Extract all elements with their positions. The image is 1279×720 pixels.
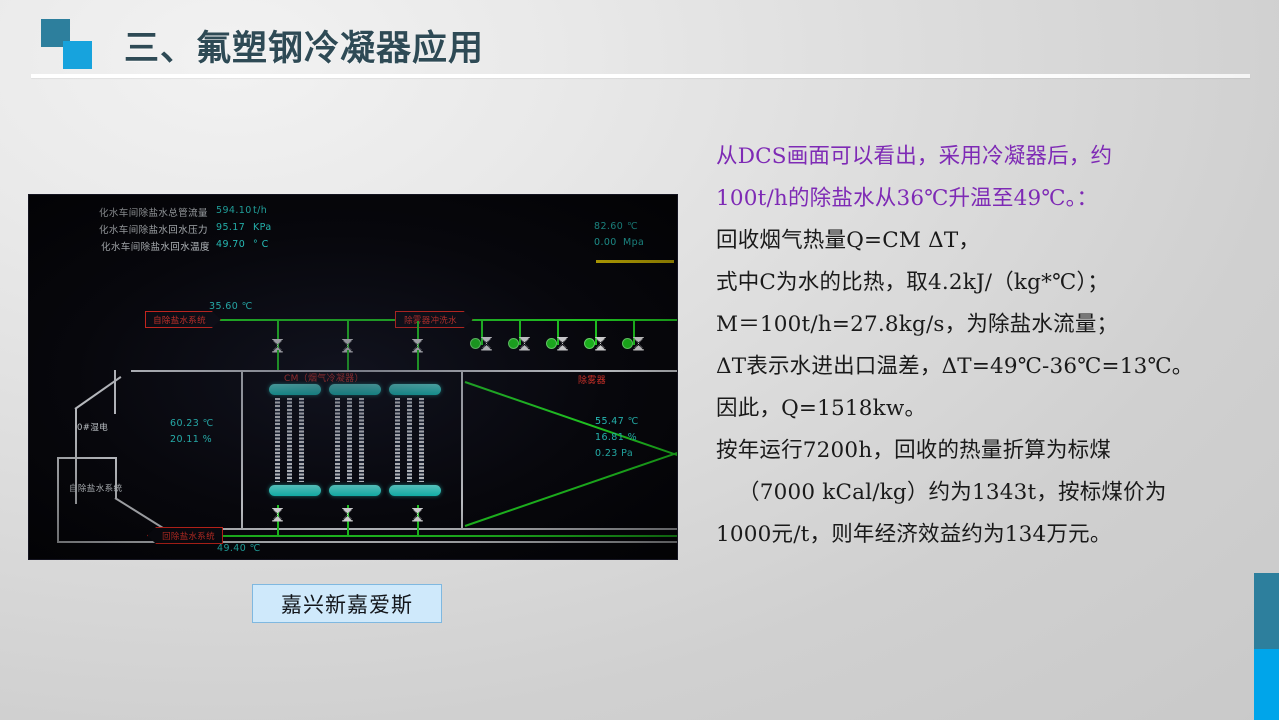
- dcs-top-right-unit-1: Mpa: [623, 237, 644, 248]
- dcs-label-cm: CM（烟气冷凝器）: [284, 371, 364, 384]
- dcs-nozzle-icon: [584, 338, 595, 349]
- dcs-label-bottom-left: 自除盐水系统: [69, 482, 122, 494]
- dcs-top-right-unit-0: ℃: [627, 221, 638, 232]
- dcs-screenshot-photo: 化水车间除盐水总管流量 594.10 t/h 化水车间除盐水回水压力 95.17…: [28, 194, 678, 560]
- dcs-tube-bundle: [347, 398, 352, 482]
- dcs-readout-unit-2: ° C: [253, 239, 269, 250]
- dcs-return-header-pipe: [159, 535, 678, 537]
- dcs-valve-icon: [342, 508, 353, 521]
- dcs-label-wet-esp: 0#湿电: [77, 421, 108, 433]
- dcs-cm-footer-bar: [269, 485, 321, 496]
- dcs-value-right-1: 16.81 %: [595, 432, 637, 443]
- dcs-tube-bundle: [299, 398, 304, 482]
- dcs-duct-cone-lower: [114, 497, 168, 532]
- dcs-valve-icon: [595, 337, 606, 350]
- dcs-cm-footer-bar: [329, 485, 381, 496]
- dcs-return-temp: 49.40 ℃: [217, 543, 261, 554]
- dcs-duct-bottom-wall: [169, 528, 678, 530]
- dcs-duct-lower-left: [57, 457, 117, 459]
- slide-header: 三、氟塑钢冷凝器应用: [0, 0, 1279, 90]
- dcs-drop-leg: [417, 350, 419, 372]
- body-text-line-4: M＝100t/h=27.8kg/s，为除盐水流量；: [716, 304, 1264, 346]
- dcs-valve-icon: [557, 337, 568, 350]
- dcs-top-right-value-1: 0.00: [594, 237, 617, 248]
- dcs-nozzle-icon: [546, 338, 557, 349]
- dcs-tube-bundle: [335, 398, 340, 482]
- dcs-tag-inlet: 自除盐水系统: [145, 311, 221, 328]
- dcs-tube-bundle: [407, 398, 412, 482]
- dcs-duct-seg: [114, 370, 116, 414]
- dcs-top-right-value-0: 82.60: [594, 221, 623, 232]
- dcs-valve-icon: [633, 337, 644, 350]
- body-text-line-8: （7000 kCal/kg）约为1343t，按标煤价为: [716, 472, 1264, 514]
- dcs-readout-unit-1: KPa: [253, 222, 272, 233]
- dcs-value-right-0: 55.47 ℃: [595, 416, 639, 427]
- dcs-supply-temp: 35.60 ℃: [209, 301, 253, 312]
- page-title: 三、氟塑钢冷凝器应用: [124, 20, 484, 71]
- dcs-tube-bundle: [395, 398, 400, 482]
- image-caption: 嘉兴新嘉爱斯: [252, 584, 442, 623]
- dcs-demister-cross: [465, 444, 678, 527]
- dcs-readout-label-2: 化水车间除盐水回水温度: [101, 239, 210, 253]
- dcs-label-demister: 除雾器: [578, 373, 606, 386]
- dcs-valve-icon: [481, 337, 492, 350]
- body-text-line-0: 从DCS画面可以看出，采用冷凝器后，约: [716, 136, 1264, 178]
- dcs-readout-value-1: 95.17: [216, 222, 245, 233]
- body-text-line-2: 回收烟气热量Q=CM ΔT，: [716, 220, 1264, 262]
- dcs-duct-base-line: [57, 541, 678, 543]
- body-text-line-1: 100t/h的除盐水从36℃升温至49℃。：: [716, 178, 1264, 220]
- dcs-yellow-bar: [596, 260, 674, 263]
- dcs-duct-top-wall: [131, 370, 678, 372]
- dcs-readout-value-0: 594.10: [216, 205, 252, 216]
- dcs-cm-header-bar: [269, 384, 321, 395]
- dcs-nozzle-icon: [622, 338, 633, 349]
- dcs-cm-footer-bar: [389, 485, 441, 496]
- dcs-drop-leg: [277, 350, 279, 372]
- body-text-line-9: 1000元/t，则年经济效益约为134万元。: [716, 514, 1264, 556]
- dcs-tag-wash-water: 除雾器冲洗水: [395, 311, 473, 328]
- body-text-line-5: ΔT表示水进出口温差，ΔT=49℃-36℃=13℃。: [716, 346, 1264, 388]
- dcs-drop-leg: [347, 350, 349, 372]
- dcs-tube-bundle: [359, 398, 364, 482]
- edge-accent-blue: [1254, 649, 1279, 720]
- dcs-tag-outlet: 回除盐水系统: [147, 527, 223, 544]
- dcs-readout-unit-0: t/h: [253, 205, 267, 216]
- dcs-tube-bundle: [419, 398, 424, 482]
- header-divider: [31, 74, 1250, 78]
- dcs-readout-label-1: 化水车间除盐水回水压力: [99, 222, 208, 236]
- body-text-line-7: 按年运行7200h，回收的热量折算为标煤: [716, 430, 1264, 472]
- dcs-valve-icon: [519, 337, 530, 350]
- dcs-demister-cross: [465, 381, 678, 464]
- body-text-block: 从DCS画面可以看出，采用冷凝器后，约100t/h的除盐水从36℃升温至49℃。…: [716, 136, 1264, 556]
- dcs-readout-label-0: 化水车间除盐水总管流量: [99, 205, 208, 219]
- dcs-cm-header-bar: [389, 384, 441, 395]
- dcs-valve-icon: [272, 508, 283, 521]
- dcs-wash-header-pipe: [473, 319, 678, 321]
- dcs-duct-divider: [461, 372, 463, 528]
- dcs-duct-divider: [241, 372, 243, 528]
- edge-accent-teal: [1254, 573, 1279, 649]
- dcs-readout-value-2: 49.70: [216, 239, 245, 250]
- body-text-line-3: 式中C为水的比热，取4.2kJ/（kg*℃）；: [716, 262, 1264, 304]
- dcs-nozzle-icon: [508, 338, 519, 349]
- dcs-tube-bundle: [287, 398, 292, 482]
- logo-square-bright-icon: [63, 41, 92, 69]
- dcs-valve-icon: [412, 508, 423, 521]
- dcs-value-right-2: 0.23 Pa: [595, 448, 633, 459]
- dcs-nozzle-icon: [470, 338, 481, 349]
- dcs-tube-bundle: [275, 398, 280, 482]
- dcs-cm-header-bar: [329, 384, 381, 395]
- dcs-value-left-0: 60.23 ℃: [170, 418, 214, 429]
- dcs-value-left-1: 20.11 %: [170, 434, 212, 445]
- body-text-line-6: 因此，Q=1518kw。: [716, 388, 1264, 430]
- dcs-duct-lower-left-wall: [57, 457, 59, 543]
- dcs-duct-right-wall: [677, 372, 678, 542]
